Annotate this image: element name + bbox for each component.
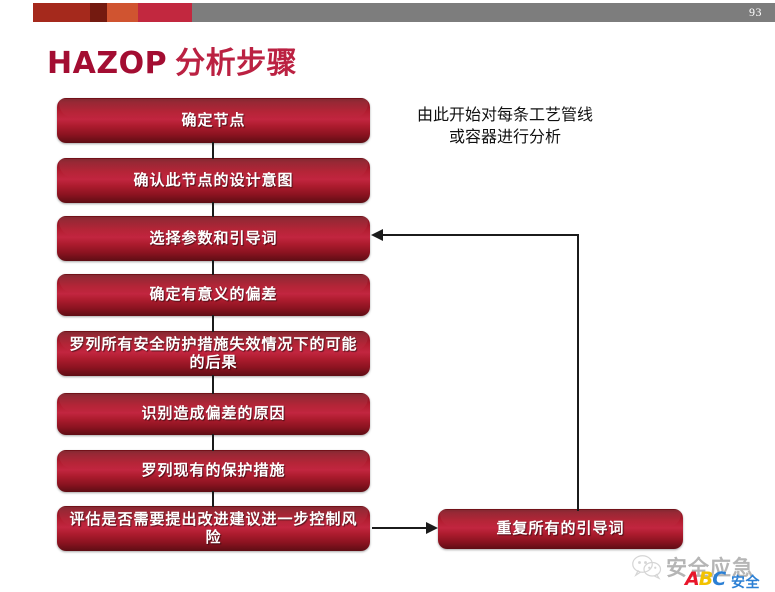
header-segment-gray <box>192 3 775 22</box>
flow-step-4[interactable]: 确定有意义的偏差 <box>57 274 370 316</box>
flow-step-7[interactable]: 罗列现有的保护措施 <box>57 450 370 492</box>
flow-step-6[interactable]: 识别造成偏差的原因 <box>57 393 370 435</box>
header-color-bar <box>0 3 775 22</box>
side-annotation-line2: 或容器进行分析 <box>380 126 630 148</box>
watermark-logo-c: C <box>712 568 725 590</box>
flow-step-3[interactable]: 选择参数和引导词 <box>57 216 370 261</box>
watermark-logo: ABC <box>685 568 725 590</box>
header-segment-orange <box>107 3 138 22</box>
page-title-cjk: 分析步骤 <box>175 46 297 81</box>
watermark: 安全应急 ABC 安全 <box>628 546 775 592</box>
connector-step4-step5 <box>212 315 214 332</box>
side-annotation: 由此开始对每条工艺管线 或容器进行分析 <box>380 104 630 147</box>
arrow-left-icon <box>371 229 383 241</box>
wechat-icon <box>632 554 662 580</box>
page-title: HAZOP分析步骤 <box>47 38 297 82</box>
header-segment-crimson <box>138 3 192 22</box>
header-segment-maroon <box>90 3 107 22</box>
loop-connector-vertical <box>577 234 579 511</box>
slide-canvas: 93 HAZOP分析步骤 由此开始对每条工艺管线 或容器进行分析 确定节点 确认… <box>0 0 775 592</box>
connector-step1-step2 <box>212 142 214 159</box>
flow-step-2[interactable]: 确认此节点的设计意图 <box>57 158 370 203</box>
connector-step7-step8 <box>212 491 214 507</box>
flow-step-5[interactable]: 罗列所有安全防护措施失效情况下的可能的后果 <box>57 331 370 376</box>
flow-step-1[interactable]: 确定节点 <box>57 98 370 143</box>
page-number: 93 <box>749 3 762 22</box>
connector-step2-step3 <box>212 202 214 217</box>
flow-loop-box[interactable]: 重复所有的引导词 <box>438 509 683 549</box>
connector-step3-step4 <box>212 260 214 275</box>
watermark-logo-sub: 安全 <box>731 572 760 592</box>
header-segment-spacer <box>0 3 33 22</box>
side-annotation-line1: 由此开始对每条工艺管线 <box>417 105 593 124</box>
flow-step-8[interactable]: 评估是否需要提出改进建议进一步控制风险 <box>57 506 370 551</box>
loop-connector-to-loopbox <box>372 527 427 529</box>
loop-connector-horizontal <box>382 234 579 236</box>
arrow-right-icon <box>426 522 438 534</box>
connector-step5-step6 <box>212 375 214 394</box>
watermark-logo-b: B <box>699 568 712 590</box>
page-title-latin: HAZOP <box>47 46 167 81</box>
watermark-logo-a: A <box>685 568 699 590</box>
connector-step6-step7 <box>212 434 214 451</box>
header-segment-dark-red <box>33 3 90 22</box>
